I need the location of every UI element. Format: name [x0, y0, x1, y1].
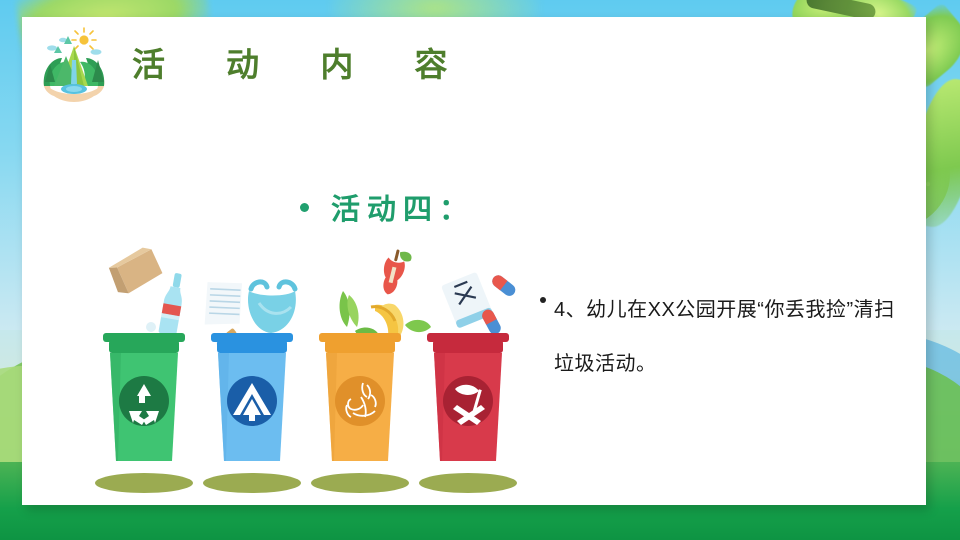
- body-bullet-icon: [540, 297, 546, 303]
- cardboard-box: [106, 245, 165, 297]
- glass-bottle: [158, 272, 187, 337]
- page-title: 活 动 内 容: [132, 48, 474, 81]
- slide: 活 动 内 容 活动四： 4、幼儿在XX公园开展“你丢我捡”清扫垃圾活动。: [0, 0, 960, 540]
- subtitle-bullet-icon: [300, 203, 309, 212]
- four-recycling-bins: [95, 245, 515, 495]
- apple-core: [378, 247, 413, 298]
- subtitle-block: 活动四：: [300, 186, 475, 228]
- bin-shadow: [419, 473, 517, 493]
- bin-shadow: [311, 473, 409, 493]
- food-scraps-icon-badge: [335, 376, 385, 426]
- subtitle-text: 活动四：: [331, 186, 475, 228]
- bin-green-body-group: [101, 333, 187, 473]
- body-paragraph: 4、幼儿在XX公园开展“你丢我捡”清扫垃圾活动。: [540, 283, 900, 391]
- green-landscape-logo: [38, 26, 110, 102]
- plastic-bag: [248, 282, 296, 333]
- bin-blue-body-group: [209, 333, 295, 473]
- bin-orange-body-group: [317, 333, 403, 473]
- bin-shadow: [203, 473, 301, 493]
- header: 活 动 内 容: [38, 26, 474, 102]
- bin-shadow: [95, 473, 193, 493]
- bin-red-body-group: [425, 333, 511, 473]
- body-text: 4、幼儿在XX公园开展“你丢我捡”清扫垃圾活动。: [554, 283, 900, 391]
- paper-sheets: [199, 276, 248, 331]
